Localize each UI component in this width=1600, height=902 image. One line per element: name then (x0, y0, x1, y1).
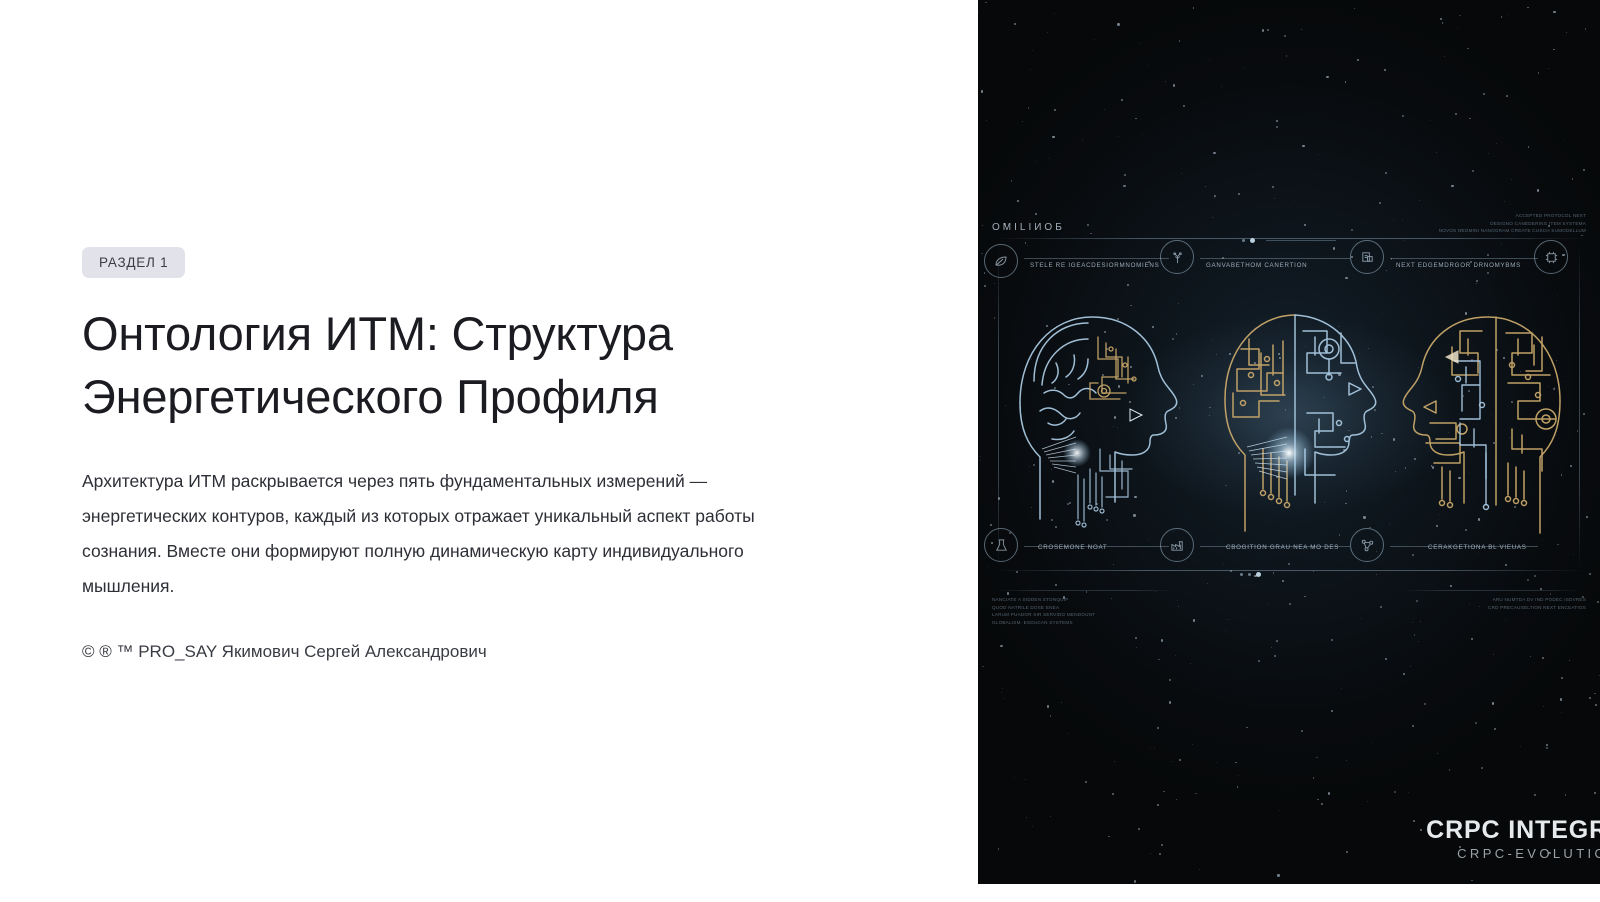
network-icon (1350, 528, 1384, 562)
microtext-bottom-left: NANCIATE A SIDDEN STONQUIP QUOD NATRILE … (992, 596, 1095, 626)
microtext-line: ACCEPTED PROTOCOL NEXT (1439, 212, 1586, 220)
dot-active (1250, 238, 1255, 243)
slide-content: РАЗДЕЛ 1 Онтология ИТМ: Структура Энерге… (82, 247, 872, 665)
head-profile-2 (1189, 253, 1389, 548)
head-profile-1 (982, 253, 1182, 548)
microtext-bottom-right: ARU NUMTDA DV IND PODEC ISDVRES CRD PREC… (1488, 596, 1586, 611)
microtext-line: DESIGNO CANEDERING ITEM SYSTEMA (1439, 220, 1586, 228)
brand-name: CRPC INTEGR (1426, 816, 1600, 844)
illustration-panel: OMILIИOБ STELE RE IGEACDESIORMNOMIENS GA… (978, 0, 1600, 884)
brand-tagline: CRPC-EVOLUTIO (1426, 846, 1600, 862)
dot-active (1256, 572, 1261, 577)
panel-faux-title: OMILIИOБ (992, 222, 1065, 233)
top-dots-indicator (1242, 238, 1255, 243)
heads-illustration-group (978, 250, 1600, 550)
panel-label-bottom-2: CERAKGETIONA BL VIEUAS (1428, 544, 1527, 551)
microtext-line: NOVOS NEOMINI NANOGRAM CREATE CUSCH SUMO… (1439, 227, 1586, 235)
dot (1248, 573, 1251, 576)
panel-label-bottom-1: CBOGITION GRAU NEA MO DES (1226, 544, 1339, 551)
brand-lockup: CRPC INTEGR CRPC-EVOLUTIO (1426, 816, 1600, 862)
page-title: Онтология ИТМ: Структура Энергетического… (82, 302, 802, 430)
microtext-line: CRD PRECAUSELTION NEXT ENCEATIOS (1488, 604, 1586, 612)
section-badge: РАЗДЕЛ 1 (82, 247, 185, 278)
microtext-line: QUOD NATRILE DOSE ENEA (992, 604, 1095, 612)
slide-root: РАЗДЕЛ 1 Онтология ИТМ: Структура Энерге… (0, 0, 1600, 902)
microtext-top-right: ACCEPTED PROTOCOL NEXT DESIGNO CANEDERIN… (1439, 212, 1586, 235)
top-dots-rule (1266, 240, 1336, 241)
bottom-dots-indicator (1240, 572, 1261, 577)
microtext-line: GLOBALISM, ESDUCAN SYSTEMS (992, 619, 1095, 627)
head-profile-3 (1396, 253, 1596, 548)
microtext-line: ARU NUMTDA DV IND PODEC ISDVRES (1488, 596, 1586, 604)
dot (1240, 573, 1243, 576)
left-text-column: РАЗДЕЛ 1 Онтология ИТМ: Структура Энерге… (0, 0, 978, 902)
copyright-line: © ® ™ PRO_SAY Якимович Сергей Александро… (82, 639, 872, 665)
dot (1242, 239, 1245, 242)
flask-icon (984, 528, 1018, 562)
factory-icon (1160, 528, 1194, 562)
microtext-line: NANCIATE A SIDDEN STONQUIP (992, 596, 1095, 604)
microtext-line: LARUM PUADOR SIR SERVIDO MENDOUNT (992, 611, 1095, 619)
panel-label-bottom-0: CROSEMONE NOAT (1038, 544, 1107, 551)
body-paragraph: Архитектура ИТМ раскрывается через пять … (82, 464, 830, 604)
